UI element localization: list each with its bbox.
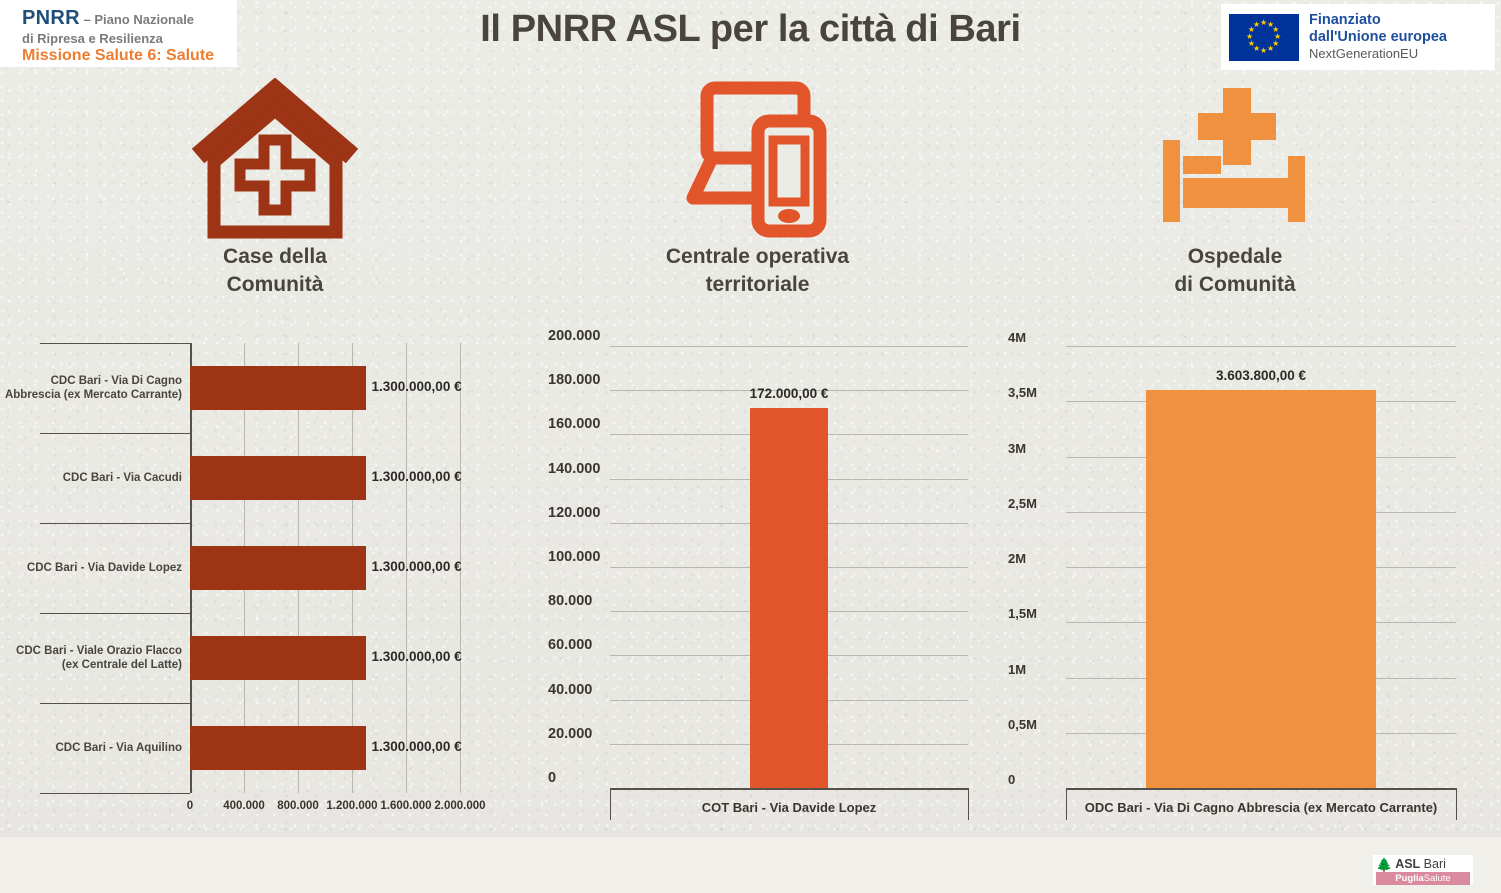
y-tick-label: 2,5M	[1008, 496, 1037, 511]
y-tick-label: 0	[548, 770, 556, 786]
x-axis-line	[1066, 788, 1456, 790]
category-separator	[40, 433, 190, 434]
footer-bar: 🌲 ASL Bari PugliaSalute	[0, 837, 1501, 893]
chart-case-della-comunita: 1.300.000,00 €CDC Bari - Via Di CagnoAbb…	[32, 338, 487, 808]
poster-canvas: PNRR – Piano Nazionale di Ripresa e Resi…	[0, 0, 1501, 893]
x-tick-label: 2.000.000	[422, 800, 498, 812]
axis-tick-mark	[968, 788, 969, 820]
section-title-line2: territoriale	[620, 271, 895, 299]
section-ospedale-di-comunita: Ospedale di Comunità	[1095, 78, 1375, 300]
pugliasalute-rest: Salute	[1424, 873, 1451, 884]
section-title-line1: Ospedale	[1095, 243, 1375, 271]
section-title-line2: Comunità	[130, 271, 420, 299]
asl-city: Bari	[1420, 857, 1446, 871]
eu-star-icon: ★	[1260, 47, 1267, 55]
bar-value-label: 1.300.000,00 €	[372, 559, 462, 574]
y-tick-label: 60.000	[548, 637, 592, 653]
chart-centrale-operativa-territoriale: 020.00040.00060.00080.000100.000120.0001…	[548, 338, 968, 808]
bar-value-label: 172.000,00 €	[709, 386, 869, 401]
y-tick-label: 80.000	[548, 593, 592, 609]
bar	[1146, 390, 1376, 788]
y-tick-label: 200.000	[548, 328, 600, 344]
bar-value-label: 3.603.800,00 €	[1181, 368, 1341, 383]
bar-value-label: 1.300.000,00 €	[372, 649, 462, 664]
category-label: COT Bari - Via Davide Lopez	[569, 800, 1009, 815]
y-tick-label: 2M	[1008, 551, 1026, 566]
eu-line3: NextGenerationEU	[1309, 47, 1447, 62]
category-separator	[40, 703, 190, 704]
section-title-line1: Case della	[130, 243, 420, 271]
y-tick-label: 3M	[1008, 441, 1026, 456]
bar	[190, 546, 366, 590]
asl-bari-logo: 🌲 ASL Bari PugliaSalute	[1373, 855, 1473, 885]
category-label-line: CDC Bari - Via Davide Lopez	[2, 561, 182, 575]
category-label-line: CDC Bari - Via Cacudi	[2, 471, 182, 485]
category-separator	[40, 343, 190, 344]
section-title: Case della Comunità	[130, 243, 420, 300]
category-label-line: CDC Bari - Viale Orazio Flacco	[2, 644, 182, 658]
section-title: Ospedale di Comunità	[1095, 243, 1375, 300]
axis-tick-mark	[1066, 788, 1067, 820]
chart-ospedale-di-comunita: 00,5M1M1,5M2M2,5M3M3,5M4M3.603.800,00 €O…	[1008, 338, 1478, 808]
bar-value-label: 1.300.000,00 €	[372, 469, 462, 484]
pugliasalute-bold: Puglia	[1395, 873, 1424, 884]
community-house-icon	[130, 78, 420, 243]
y-tick-label: 40.000	[548, 682, 592, 698]
section-title-line2: di Comunità	[1095, 271, 1375, 299]
bar-value-label: 1.300.000,00 €	[372, 739, 462, 754]
asl-logo-name: ASL Bari	[1395, 857, 1446, 871]
category-label: ODC Bari - Via Di Cagno Abbrescia (ex Me…	[1041, 800, 1481, 815]
y-tick-label: 1,5M	[1008, 606, 1037, 621]
y-tick-label: 100.000	[548, 549, 600, 565]
y-tick-label: 0	[1008, 772, 1015, 787]
eu-star-icon: ★	[1253, 21, 1260, 29]
eu-flag-icon: ★★★★★★★★★★★★	[1229, 14, 1299, 61]
eu-star-icon: ★	[1246, 33, 1253, 41]
gridline-horizontal	[1066, 346, 1456, 347]
section-title-line1: Centrale operativa	[620, 243, 895, 271]
bar	[190, 456, 366, 500]
section-title: Centrale operativa territoriale	[620, 243, 895, 300]
gridline-horizontal	[610, 346, 968, 347]
tree-icon: 🌲	[1376, 858, 1392, 871]
eu-funding-text: Finanziato dall'Unione europea NextGener…	[1309, 12, 1447, 61]
bar	[190, 726, 366, 770]
category-label-line: CDC Bari - Via Aquilino	[2, 741, 182, 755]
category-label-line: CDC Bari - Via Di Cagno	[2, 374, 182, 388]
eu-star-icon: ★	[1267, 45, 1274, 53]
section-centrale-operativa-territoriale: Centrale operativa territoriale	[620, 78, 895, 300]
axis-tick-mark	[1456, 788, 1457, 820]
category-label: CDC Bari - Viale Orazio Flacco(ex Centra…	[2, 644, 182, 673]
y-tick-label: 0,5M	[1008, 717, 1037, 732]
y-tick-label: 20.000	[548, 726, 592, 742]
asl-acronym: ASL	[1395, 857, 1420, 871]
y-tick-label: 140.000	[548, 461, 600, 477]
section-case-della-comunita: Case della Comunità	[130, 78, 420, 300]
y-tick-label: 1M	[1008, 662, 1026, 677]
axis-tick-mark	[610, 788, 611, 820]
category-label-line: Abbrescia (ex Mercato Carrante)	[2, 388, 182, 402]
eu-funding-logo: ★★★★★★★★★★★★ Finanziato dall'Unione euro…	[1221, 4, 1495, 70]
category-label: CDC Bari - Via Aquilino	[2, 741, 182, 755]
category-label-line: (ex Centrale del Latte)	[2, 658, 182, 672]
bar	[750, 408, 828, 788]
category-label: CDC Bari - Via Di CagnoAbbrescia (ex Mer…	[2, 374, 182, 403]
category-separator	[40, 613, 190, 614]
eu-star-icon: ★	[1248, 40, 1255, 48]
y-tick-label: 4M	[1008, 330, 1026, 345]
eu-line2: dall'Unione europea	[1309, 29, 1447, 45]
y-tick-label: 160.000	[548, 416, 600, 432]
laptop-smartphone-icon	[620, 78, 895, 243]
y-tick-label: 120.000	[548, 505, 600, 521]
hospital-bed-cross-icon	[1095, 78, 1375, 243]
y-tick-label: 180.000	[548, 372, 600, 388]
x-axis-line	[610, 788, 968, 790]
eu-line1: Finanziato	[1309, 12, 1447, 28]
category-separator	[40, 793, 190, 794]
bar	[190, 636, 366, 680]
y-tick-label: 3,5M	[1008, 385, 1037, 400]
bar	[190, 366, 366, 410]
category-label: CDC Bari - Via Cacudi	[2, 471, 182, 485]
bar-value-label: 1.300.000,00 €	[372, 379, 462, 394]
pugliasalute-band: PugliaSalute	[1376, 872, 1470, 885]
category-separator	[40, 523, 190, 524]
category-label: CDC Bari - Via Davide Lopez	[2, 561, 182, 575]
asl-logo-top: 🌲 ASL Bari	[1376, 857, 1470, 871]
